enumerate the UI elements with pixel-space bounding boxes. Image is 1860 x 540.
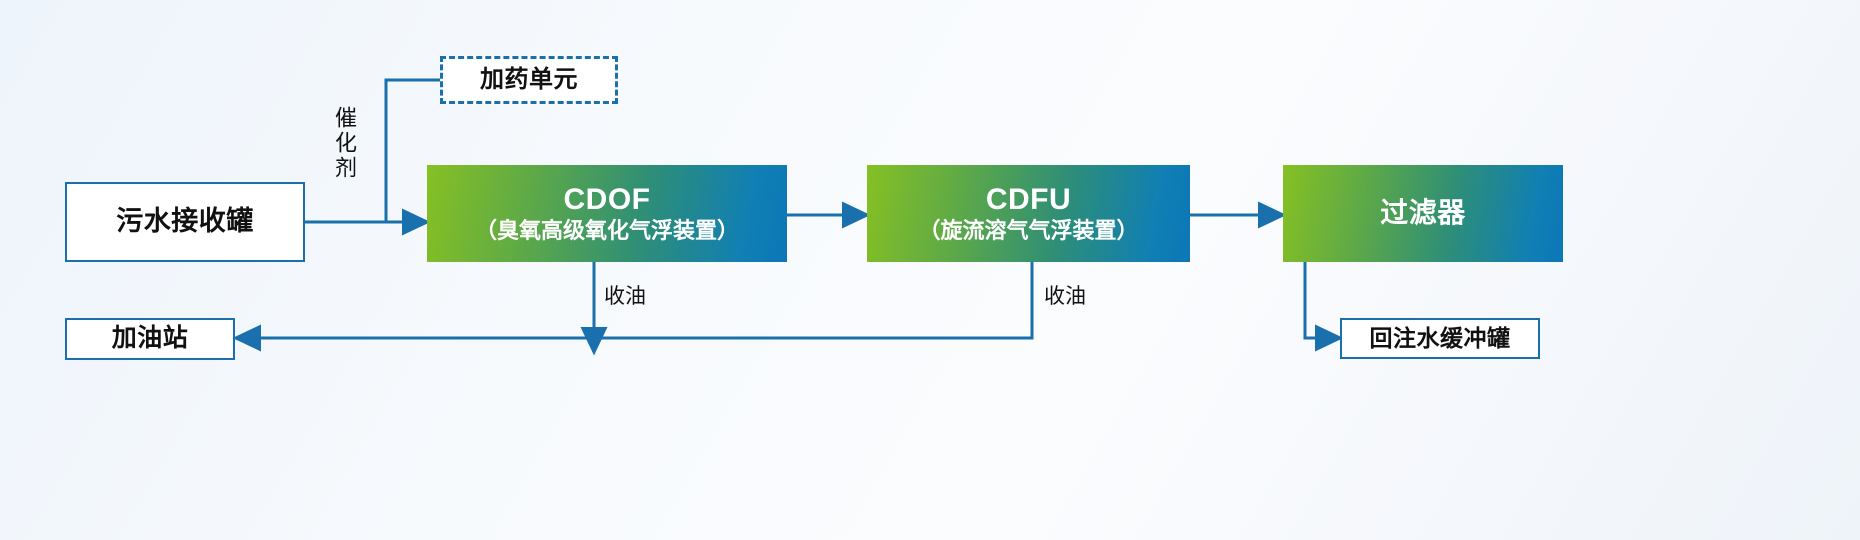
node-reinjection-buffer-tank-label: 回注水缓冲罐 (1370, 326, 1511, 351)
node-cdfu[interactable]: CDFU （旋流溶气气浮装置） (867, 165, 1190, 262)
node-dosing-unit-label: 加药单元 (480, 67, 578, 93)
edge-filter-to-reinjection (1305, 262, 1318, 338)
edge-label-oil-recovery-cdfu: 收油 (1044, 280, 1086, 310)
node-cdfu-label: CDFU (986, 183, 1071, 216)
node-wastewater-tank-label: 污水接收罐 (116, 207, 254, 237)
node-wastewater-tank[interactable]: 污水接收罐 (65, 182, 305, 262)
edge-label-oil-recovery-cdof: 收油 (604, 280, 646, 310)
node-reinjection-buffer-tank[interactable]: 回注水缓冲罐 (1340, 318, 1540, 359)
node-filter[interactable]: 过滤器 (1283, 165, 1563, 262)
node-cdfu-sublabel: （旋流溶气气浮装置） (918, 218, 1138, 243)
flowchart-canvas: 污水接收罐 加药单元 CDOF （臭氧高级氧化气浮装置） CDFU （旋流溶气气… (0, 0, 1860, 540)
node-cdof-sublabel: （臭氧高级氧化气浮装置） (475, 218, 739, 243)
edge-label-catalyst: 催化剂 (328, 106, 360, 181)
node-cdof[interactable]: CDOF （臭氧高级氧化气浮装置） (427, 165, 787, 262)
node-filter-label: 过滤器 (1380, 198, 1466, 229)
node-dosing-unit[interactable]: 加药单元 (440, 56, 618, 104)
connector-layer (0, 0, 1860, 540)
node-gas-station-label: 加油站 (112, 325, 189, 353)
node-cdof-label: CDOF (564, 183, 651, 216)
node-gas-station[interactable]: 加油站 (65, 318, 235, 360)
